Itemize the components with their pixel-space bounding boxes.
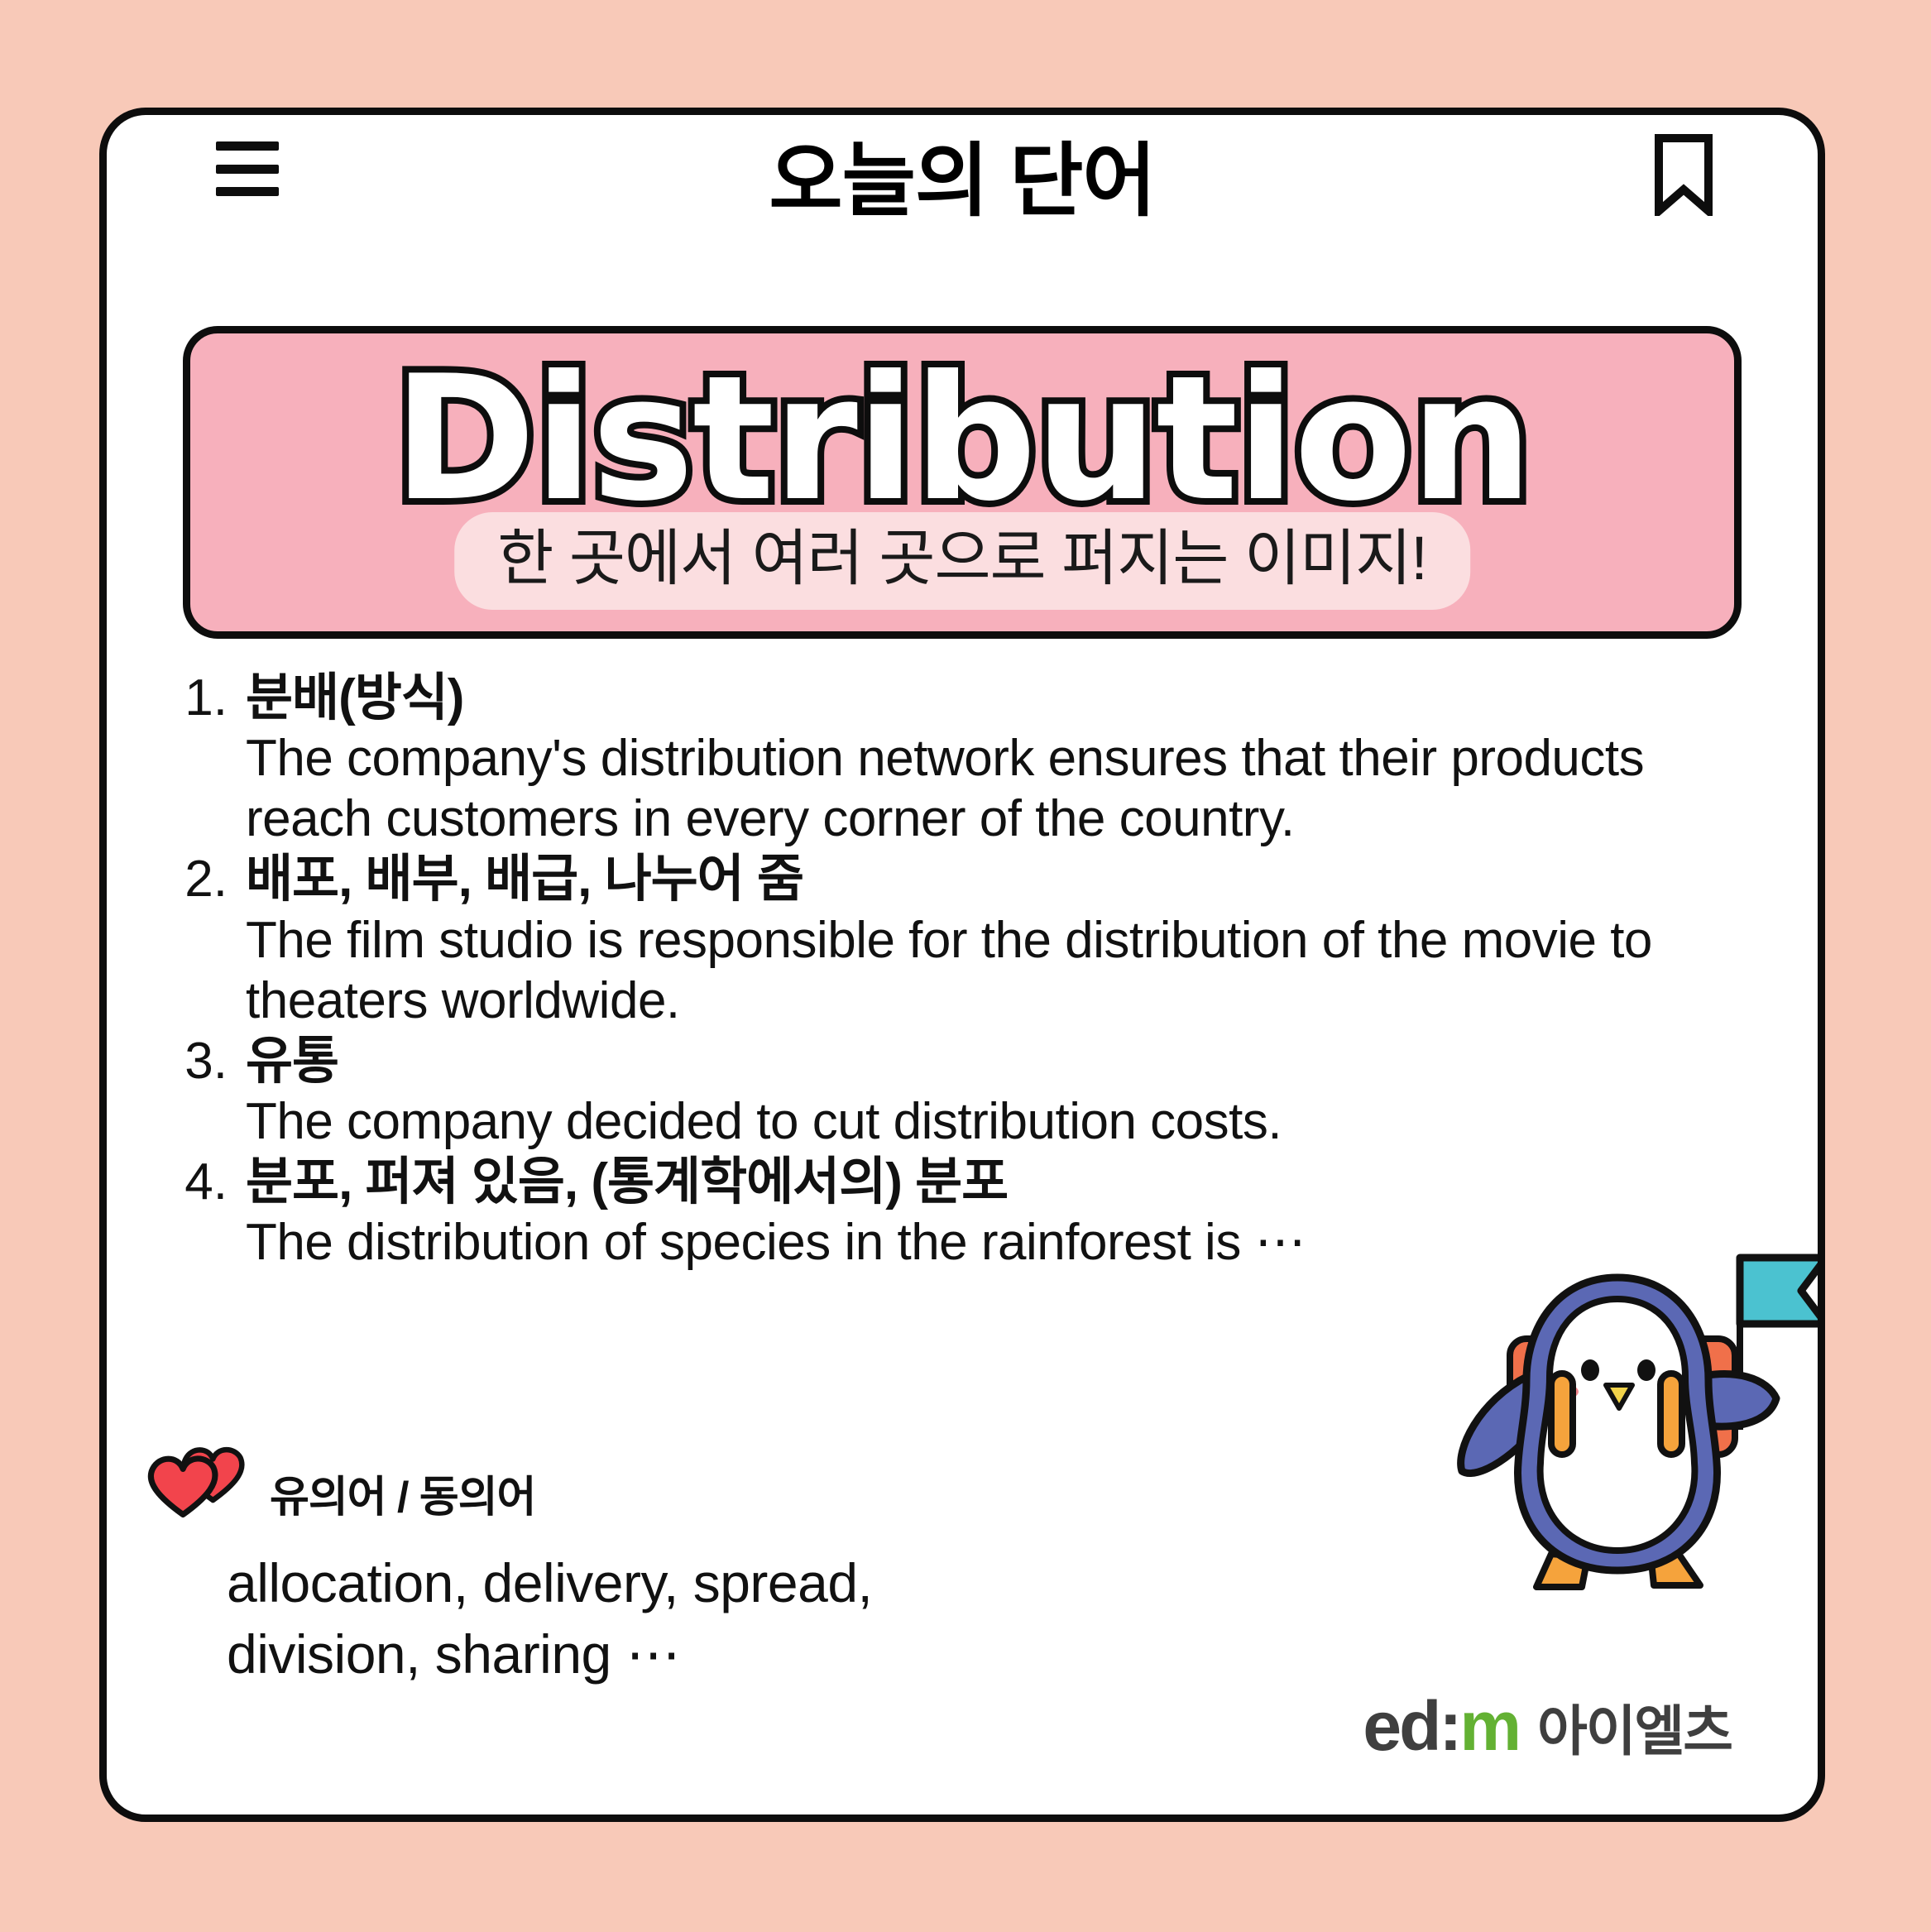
definition-body: 배포, 배부, 배급, 나누어 줌 The film studio is res… xyxy=(246,849,1778,1030)
definition-korean: 유통 xyxy=(246,1031,1778,1091)
word-highlight-box: Distribution 한 곳에서 여러 곳으로 퍼지는 이미지! xyxy=(183,326,1742,639)
definition-number: 4. xyxy=(140,1152,246,1212)
word-hint-pill: 한 곳에서 여러 곳으로 퍼지는 이미지! xyxy=(454,512,1470,611)
definition-number: 1. xyxy=(140,668,246,728)
definition-korean: 배포, 배부, 배급, 나누어 줌 xyxy=(246,849,1778,909)
synonyms-header: 유의어 / 동의어 xyxy=(144,1439,1219,1525)
card-header: 오늘의 단어 xyxy=(107,115,1818,272)
definition-example: The film studio is responsible for the d… xyxy=(246,910,1778,1031)
bookmark-icon[interactable] xyxy=(1653,133,1714,216)
synonyms-words: allocation, delivery, spread, division, … xyxy=(227,1548,1219,1690)
double-heart-icon xyxy=(144,1439,253,1525)
definition-item: 2. 배포, 배부, 배급, 나누어 줌 The film studio is … xyxy=(140,849,1778,1030)
definition-item: 1. 분배(방식) The company's distribution net… xyxy=(140,668,1778,849)
brand-logo: ed: m 아이엘츠 xyxy=(1363,1686,1732,1767)
definition-item: 3. 유통 The company decided to cut distrib… xyxy=(140,1031,1778,1152)
definition-example: The company decided to cut distribution … xyxy=(246,1091,1778,1152)
synonyms-section: 유의어 / 동의어 allocation, delivery, spread, … xyxy=(144,1439,1219,1690)
definition-example: The company's distribution network ensur… xyxy=(246,728,1778,849)
word-hint-text: 한 곳에서 여러 곳으로 퍼지는 이미지! xyxy=(497,524,1427,592)
definition-number: 3. xyxy=(140,1031,246,1091)
vocabulary-word: Distribution xyxy=(190,353,1734,525)
definition-list: 1. 분배(방식) The company's distribution net… xyxy=(140,668,1778,1273)
logo-text-m: m xyxy=(1459,1686,1519,1767)
word-of-the-day-card: 오늘의 단어 Distribution 한 곳에서 여러 곳으로 퍼지는 이미지… xyxy=(99,108,1825,1822)
page-title: 오늘의 단어 xyxy=(107,133,1818,229)
logo-text-korean: 아이엘츠 xyxy=(1537,1687,1732,1767)
logo-text-ed: ed: xyxy=(1363,1686,1459,1767)
definition-korean: 분포, 퍼져 있음, (통계학에서의) 분포 xyxy=(246,1152,1778,1212)
definition-body: 유통 The company decided to cut distributi… xyxy=(246,1031,1778,1152)
synonyms-label: 유의어 / 동의어 xyxy=(270,1462,535,1524)
definition-body: 분배(방식) The company's distribution networ… xyxy=(246,668,1778,849)
definition-number: 2. xyxy=(140,849,246,909)
penguin-mascot xyxy=(1412,1223,1825,1637)
definition-korean: 분배(방식) xyxy=(246,668,1778,728)
